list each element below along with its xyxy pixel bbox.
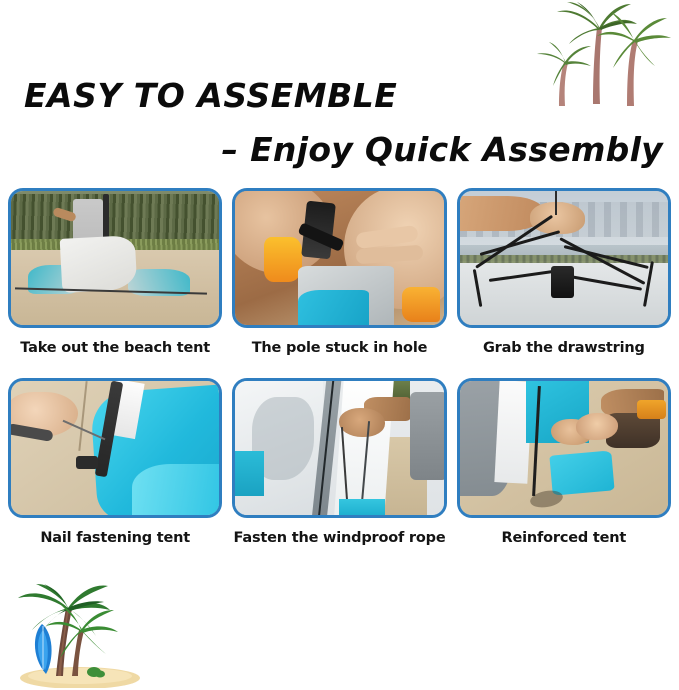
photo-pole-stuck-in-hole (232, 188, 446, 328)
photo-grab-drawstring (457, 188, 671, 328)
step-caption-3: Grab the drawstring (457, 340, 671, 356)
step-caption-5: Fasten the windproof rope (232, 530, 446, 546)
step-caption-2: The pole stuck in hole (232, 340, 446, 356)
assembly-steps-grid: Take out the beach tent The pole stuck i… (0, 188, 679, 546)
step-caption-4: Nail fastening tent (8, 530, 222, 546)
header: EASY TO ASSEMBLE – Enjoy Quick Assembly (0, 0, 679, 180)
headline-secondary: – Enjoy Quick Assembly (222, 130, 664, 169)
step-item-1: Take out the beach tent (8, 188, 222, 356)
palm-island-surfboard-icon (8, 584, 168, 688)
photo-fasten-windproof-rope (232, 378, 446, 518)
step-item-3: Grab the drawstring (457, 188, 671, 356)
palm-trees-icon (523, 0, 673, 108)
step-item-4: Nail fastening tent (8, 378, 222, 546)
photo-take-out-beach-tent (8, 188, 222, 328)
step-item-2: The pole stuck in hole (232, 188, 446, 356)
photo-nail-fastening-tent (8, 378, 222, 518)
step-item-6: Reinforced tent (457, 378, 671, 546)
headline-primary: EASY TO ASSEMBLE (24, 76, 397, 115)
step-caption-6: Reinforced tent (457, 530, 671, 546)
photo-reinforced-tent (457, 378, 671, 518)
step-item-5: Fasten the windproof rope (232, 378, 446, 546)
step-caption-1: Take out the beach tent (8, 340, 222, 356)
